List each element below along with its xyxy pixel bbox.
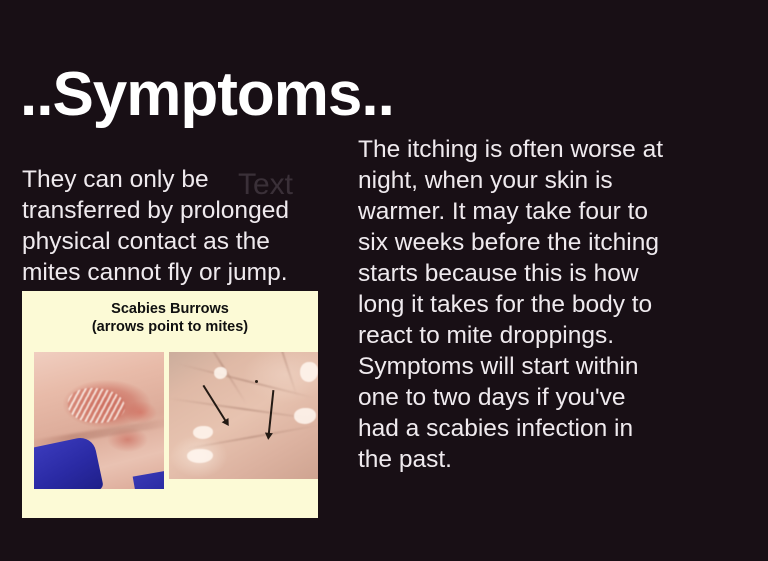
blue-glove-edge (133, 469, 164, 489)
left-body-text: They can only be transferred by prolonge… (22, 164, 322, 288)
skin-flake (187, 449, 213, 463)
burrow-arrows-photo (169, 352, 318, 479)
figure-photo-row (34, 352, 318, 512)
right-text-column: The itching is often worse at night, whe… (358, 134, 664, 475)
inflamed-skin-photo (34, 352, 164, 489)
skin-flake (300, 362, 318, 382)
skin-flake (294, 408, 316, 424)
right-body-text: The itching is often worse at night, whe… (358, 134, 664, 475)
skin-flake (214, 367, 227, 379)
left-text-column: Text They can only be transferred by pro… (22, 164, 322, 288)
presentation-slide: ..Symptoms.. Text They can only be trans… (0, 0, 768, 561)
page-title: ..Symptoms.. (20, 64, 394, 126)
skin-flake (193, 426, 213, 439)
figure-panel: Scabies Burrows (arrows point to mites) (22, 291, 318, 518)
skin-lesion-patch (68, 388, 125, 424)
figure-caption: Scabies Burrows (arrows point to mites) (22, 300, 318, 336)
